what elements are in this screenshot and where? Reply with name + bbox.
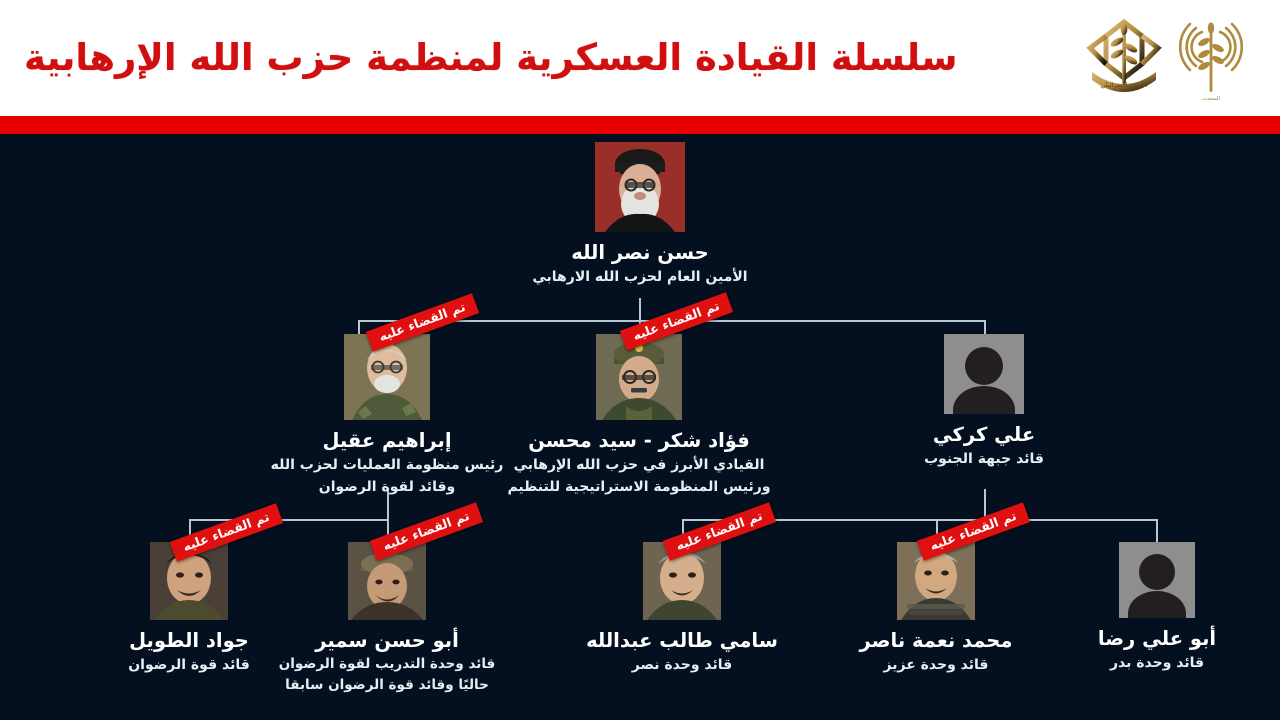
header-accent-bar xyxy=(0,116,1280,134)
infographic-page: المتحدث xyxy=(0,0,1280,720)
node-name: علي كركي xyxy=(794,423,1174,447)
org-node-fuad-shukr[interactable]: تم القضاء عليه فؤاد شكر - سيد محسن القيا… xyxy=(449,334,829,496)
portrait-photo xyxy=(596,334,682,420)
node-role: قائد جبهة الجنوب xyxy=(794,450,1174,468)
org-node-ali-karaki[interactable]: علي كركي قائد جبهة الجنوب xyxy=(794,334,1174,469)
node-role: قائد وحدة بدر xyxy=(977,654,1280,672)
portrait-photo xyxy=(595,142,685,232)
connector-aqil-bus xyxy=(189,519,388,521)
placeholder-avatar-icon xyxy=(1119,542,1195,618)
org-node-nasrallah[interactable]: حسن نصر الله الأمين العام لحزب الله الار… xyxy=(450,142,830,287)
photo-wrapper xyxy=(1119,542,1195,618)
photo-wrapper: تم القضاء عليه xyxy=(596,334,682,420)
page-title: سلسلة القيادة العسكرية لمنظمة حزب الله ا… xyxy=(0,37,1068,80)
photo-wrapper xyxy=(595,142,685,232)
node-name: فؤاد شكر - سيد محسن xyxy=(449,429,829,453)
node-role: القيادي الأبرز في حزب الله الإرهابي xyxy=(449,456,829,474)
photo-wrapper: تم القضاء عليه xyxy=(344,334,430,420)
org-chart-canvas: حسن نصر الله الأمين العام لحزب الله الار… xyxy=(0,134,1280,720)
photo-wrapper: تم القضاء عليه xyxy=(643,542,721,620)
placeholder-avatar-icon xyxy=(944,334,1024,414)
node-name: حسن نصر الله xyxy=(450,241,830,265)
org-node-abu-ali-reda[interactable]: أبو علي رضا قائد وحدة بدر xyxy=(977,542,1280,673)
connector-root-stem xyxy=(639,298,641,320)
photo-wrapper xyxy=(944,334,1024,414)
node-role: ورئيس المنظومة الاستراتيجية للتنظيم xyxy=(449,478,829,496)
node-role: الأمين العام لحزب الله الارهابي xyxy=(450,268,830,286)
photo-wrapper: تم القضاء عليه xyxy=(897,542,975,620)
header-bar: المتحدث xyxy=(0,0,1280,116)
node-role: حاليًا وقائد قوة الرضوان سابقا xyxy=(207,677,567,695)
svg-text:الجيش الإسرائيلي: الجيش الإسرائيلي xyxy=(1100,81,1147,89)
photo-wrapper: تم القضاء عليه xyxy=(348,542,426,620)
node-name: أبو علي رضا xyxy=(977,627,1280,651)
logo-group: المتحدث xyxy=(1068,12,1280,104)
svg-text:المتحدث: المتحدث xyxy=(1202,96,1220,102)
idf-emblem-logo-icon: الجيش الإسرائيلي xyxy=(1078,12,1170,104)
idf-arabic-spokesperson-logo-icon: المتحدث xyxy=(1176,12,1246,104)
